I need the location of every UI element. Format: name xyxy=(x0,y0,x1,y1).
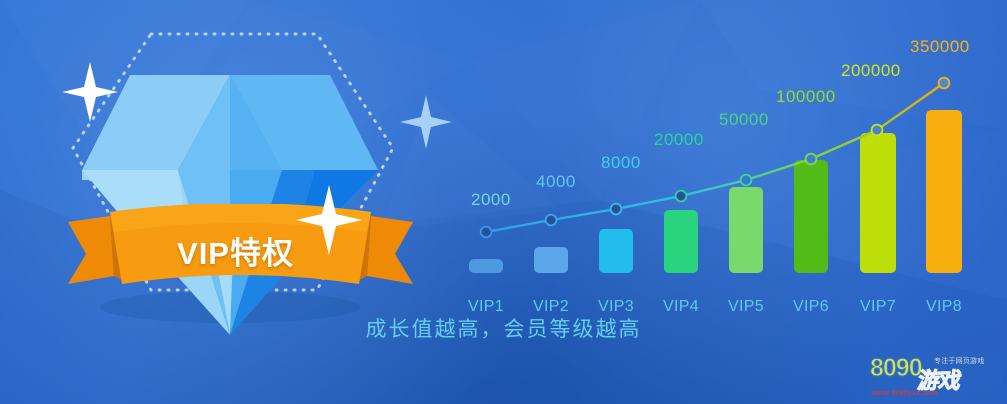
watermark-brand: 8090 xyxy=(870,356,922,381)
vip-growth-chart: 2000 4000 8000 20000 50000 100000 200000… xyxy=(455,20,1000,305)
value-label-vip3: 8000 xyxy=(601,153,641,173)
value-label-vip4: 20000 xyxy=(654,130,704,150)
vip-ribbon xyxy=(68,204,413,300)
value-label-vip1: 2000 xyxy=(471,190,511,210)
value-label-vip8: 350000 xyxy=(910,37,970,57)
value-label-vip5: 50000 xyxy=(719,110,769,130)
vip-privilege-banner: VIP特权 xyxy=(0,0,1007,404)
watermark-game-word: 游戏 xyxy=(916,370,962,392)
value-label-vip6: 100000 xyxy=(776,87,836,107)
diamond-illustration xyxy=(75,45,385,345)
watermark-logo: 8090 游戏 专注于网页游戏 www.8090yxs.com xyxy=(866,352,1001,400)
chart-subtitle: 成长值越高，会员等级越高 xyxy=(0,313,1007,343)
value-label-vip7: 200000 xyxy=(841,61,901,81)
value-label-vip2: 4000 xyxy=(536,172,576,192)
watermark-tagline: 专注于网页游戏 xyxy=(934,356,984,366)
watermark-url: www.8090yxs.com xyxy=(872,390,938,397)
growth-trend-line xyxy=(455,20,1000,305)
